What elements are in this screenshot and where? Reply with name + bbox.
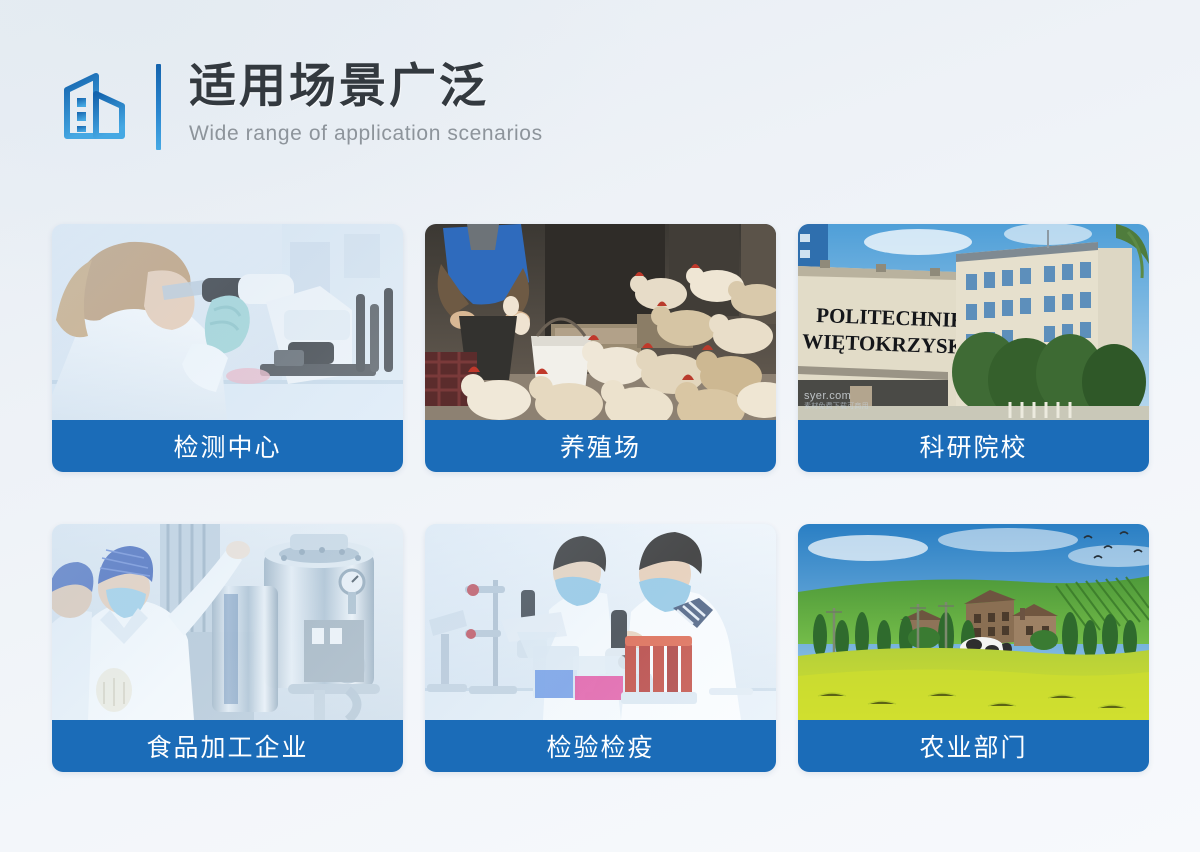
scenario-card-label: 检验检疫	[425, 720, 776, 772]
scenario-card-label: 检测中心	[52, 420, 403, 472]
building-icon	[60, 66, 134, 144]
application-scenarios-page: 适用场景广泛 Wide range of application scenari…	[0, 0, 1200, 852]
inspection-lab-photo	[425, 524, 776, 720]
scenario-card-label: 养殖场	[425, 420, 776, 472]
section-header: 适用场景广泛 Wide range of application scenari…	[60, 58, 543, 150]
header-accent-divider	[156, 64, 161, 150]
scenario-card-poultry-farm[interactable]: 养殖场	[425, 224, 776, 472]
scenario-card-label: 食品加工企业	[52, 720, 403, 772]
scenario-card-research-institute[interactable]: POLITECHNIKA WIĘTOKRZYSKA	[798, 224, 1149, 472]
header-text-block: 适用场景广泛 Wide range of application scenari…	[189, 58, 543, 147]
scenario-card-agriculture-department[interactable]: 农业部门	[798, 524, 1149, 772]
page-title: 适用场景广泛	[189, 58, 543, 113]
university-building-photo: POLITECHNIKA WIĘTOKRZYSKA	[798, 224, 1149, 420]
scenario-card-food-processing[interactable]: 食品加工企业	[52, 524, 403, 772]
scenario-card-grid: 检测中心	[52, 224, 1148, 772]
scenario-card-testing-center[interactable]: 检测中心	[52, 224, 403, 472]
scenario-card-label: 农业部门	[798, 720, 1149, 772]
food-factory-photo	[52, 524, 403, 720]
page-subtitle: Wide range of application scenarios	[189, 121, 543, 146]
farmland-photo	[798, 524, 1149, 720]
scenario-card-label: 科研院校	[798, 420, 1149, 472]
scenario-card-inspection-quarantine[interactable]: 检验检疫	[425, 524, 776, 772]
lab-microscope-photo	[52, 224, 403, 420]
poultry-farm-photo	[425, 224, 776, 420]
